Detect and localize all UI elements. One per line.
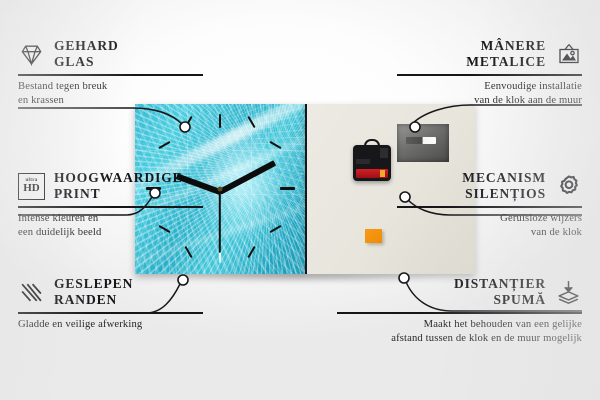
hanger-slot bbox=[406, 137, 436, 144]
hour-tick-12 bbox=[219, 114, 221, 128]
arrow-onto-layers-icon bbox=[555, 279, 582, 306]
callout-rule bbox=[18, 312, 203, 314]
callout-title: MECANISMSILENȚIOS bbox=[397, 170, 546, 203]
callout-description: Eenvoudige installatievan de klok aan de… bbox=[397, 80, 582, 109]
callout-title: MÂNEREMETALICE bbox=[397, 38, 546, 71]
mechanism-dial bbox=[380, 148, 388, 158]
callout-rule bbox=[337, 312, 582, 314]
callout-description: Gladde en veilige afwerking bbox=[18, 318, 203, 333]
clock-center-pin bbox=[218, 187, 223, 192]
hanging-picture-frame-icon bbox=[555, 41, 582, 68]
second-hand bbox=[219, 191, 221, 253]
callout-description: Geruisloze wijzersvan de klok bbox=[397, 212, 582, 241]
clock-mechanism bbox=[353, 145, 391, 181]
callout-manere-metalice: MÂNEREMETALICE Eenvoudige installatievan… bbox=[397, 38, 582, 109]
mechanism-loop bbox=[364, 139, 380, 149]
callout-rule bbox=[18, 74, 203, 76]
callout-description: Maakt het behouden van een gelijkeafstan… bbox=[337, 318, 582, 347]
infographic-canvas: GEHARDGLAS Bestand tegen breuken krassen… bbox=[0, 0, 600, 400]
diamond-icon bbox=[18, 41, 45, 68]
callout-title: DISTANȚIERSPUMĂ bbox=[337, 276, 546, 309]
callout-rule bbox=[397, 206, 582, 208]
callout-title: GEHARDGLAS bbox=[54, 38, 119, 71]
mechanism-dial bbox=[356, 159, 370, 164]
ultra-hd-icon: ultra HD bbox=[18, 173, 45, 200]
callout-hoogwaardige-print: ultra HD HOOGWAARDIGEPRINT Intense kleur… bbox=[18, 170, 203, 241]
callout-title: HOOGWAARDIGEPRINT bbox=[54, 170, 183, 203]
gear-icon bbox=[555, 173, 582, 200]
callout-geslepen-randen: GESLEPENRANDEN Gladde en veilige afwerki… bbox=[18, 276, 203, 332]
callout-distantier-spuma: DISTANȚIERSPUMĂ Maakt het behouden van e… bbox=[337, 276, 582, 347]
diagonal-lines-icon bbox=[18, 279, 45, 306]
callout-gehard-glas: GEHARDGLAS Bestand tegen breuken krassen bbox=[18, 38, 203, 109]
battery bbox=[356, 169, 388, 178]
metal-hanger bbox=[397, 124, 449, 162]
glass-pane-line bbox=[135, 150, 305, 151]
callout-rule bbox=[397, 74, 582, 76]
callout-title: GESLEPENRANDEN bbox=[54, 276, 133, 309]
callout-description: Intense kleuren eneen duidelijk beeld bbox=[18, 212, 203, 241]
callout-description: Bestand tegen breuken krassen bbox=[18, 80, 203, 109]
hour-tick-3 bbox=[280, 187, 295, 190]
callout-mecanism-silentios: MECANISMSILENȚIOS Geruisloze wijzersvan … bbox=[397, 170, 582, 241]
foam-spacer bbox=[365, 229, 382, 243]
callout-rule bbox=[18, 206, 203, 208]
